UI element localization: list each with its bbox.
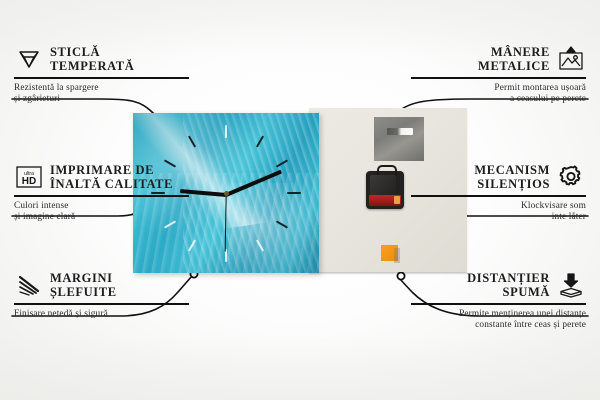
callout-underline bbox=[411, 303, 586, 305]
clock-tick-1 bbox=[256, 135, 264, 147]
callout-title-line1: MECANISM bbox=[474, 163, 550, 177]
hanger-slot bbox=[387, 128, 413, 135]
callout-underline bbox=[411, 77, 586, 79]
callout-title: MARGINI ȘLEFUITE bbox=[50, 271, 117, 299]
clock-second-hand bbox=[224, 194, 226, 252]
callout-underline bbox=[411, 195, 586, 197]
callout-subtitle: Finisare netedă și sigură bbox=[14, 309, 189, 320]
callout-title-line2: SPUMĂ bbox=[503, 285, 550, 299]
callout-title: IMPRIMARE DE ÎNALTĂ CALITATE bbox=[50, 163, 173, 191]
callout-subtitle-line2: constante între ceas și perete bbox=[475, 320, 586, 330]
callout-title-line2: TEMPERATĂ bbox=[50, 59, 134, 73]
callout-title-line2: ÎNALTĂ CALITATE bbox=[50, 177, 173, 191]
clock-tick-7 bbox=[188, 239, 196, 251]
callout-subtitle-line2: a ceasului pe perete bbox=[510, 94, 586, 104]
clock-tick-2 bbox=[276, 159, 288, 167]
callout-title: DISTANȚIER SPUMĂ bbox=[467, 271, 550, 299]
callout-title: MÂNERE METALICE bbox=[478, 45, 550, 73]
callout-title: STICLĂ TEMPERATĂ bbox=[50, 45, 134, 73]
callout-title: MECANISM SILENȚIOS bbox=[474, 163, 550, 191]
ultra-hd-icon: ultra HD bbox=[14, 162, 44, 192]
callout-title-line1: DISTANȚIER bbox=[467, 271, 550, 285]
callout-title-line1: MARGINI bbox=[50, 271, 113, 285]
clock-tick-12 bbox=[225, 125, 227, 138]
callout-title-line2: ȘLEFUITE bbox=[50, 285, 117, 299]
callout-subtitle: Rezistentă la spargere și zgârieturi bbox=[14, 83, 189, 106]
callout-title-line1: IMPRIMARE DE bbox=[50, 163, 154, 177]
clock-center-pin bbox=[224, 191, 229, 196]
callout-title-line2: SILENȚIOS bbox=[477, 177, 550, 191]
callout-margini-slefuite: MARGINI ȘLEFUITE Finisare netedă și sigu… bbox=[14, 268, 189, 320]
callout-subtitle-line1: Permit montarea ușoară bbox=[494, 83, 586, 93]
callout-underline bbox=[14, 303, 189, 305]
callout-subtitle: Klockvisare som inte låter bbox=[411, 201, 586, 224]
callout-subtitle-line2: inte låter bbox=[552, 212, 586, 222]
callout-subtitle: Culori intense și imagine clară bbox=[14, 201, 189, 224]
callout-subtitle-line2: și zgârieturi bbox=[14, 94, 60, 104]
callout-underline bbox=[14, 77, 189, 79]
clock-minute-hand bbox=[225, 170, 282, 197]
callout-subtitle-line1: Rezistentă la spargere bbox=[14, 83, 99, 93]
callout-subtitle: Permit montarea ușoară a ceasului pe per… bbox=[411, 83, 586, 106]
mechanism-body bbox=[370, 175, 396, 197]
diamond-icon bbox=[14, 44, 44, 74]
callout-distantier-spuma: DISTANȚIER SPUMĂ Permite menținerea unei… bbox=[411, 268, 586, 331]
feather-glow bbox=[228, 183, 319, 273]
callout-subtitle-line1: Klockvisare som bbox=[521, 201, 586, 211]
battery bbox=[369, 195, 401, 206]
callout-mecanism-silentios: MECANISM SILENȚIOS Klockvisare som inte … bbox=[411, 160, 586, 223]
callout-underline bbox=[14, 195, 189, 197]
callout-title-line1: MÂNERE bbox=[491, 45, 550, 59]
svg-text:HD: HD bbox=[22, 176, 36, 187]
callout-sticla-temperata: STICLĂ TEMPERATĂ Rezistentă la spargere … bbox=[14, 42, 189, 105]
callout-title-line1: STICLĂ bbox=[50, 45, 100, 59]
callout-manere-metalice: MÂNERE METALICE Permit montarea ușoară a… bbox=[411, 42, 586, 105]
foam-spacer-icon bbox=[556, 270, 586, 300]
callout-subtitle-line1: Culori intense bbox=[14, 201, 69, 211]
callout-subtitle: Permite menținerea unei distanțe constan… bbox=[411, 309, 586, 332]
clock-tick-4 bbox=[276, 220, 288, 228]
callout-subtitle-line1: Finisare netedă și sigură bbox=[14, 309, 108, 319]
callout-subtitle-line2: și imagine clară bbox=[14, 212, 75, 222]
polished-edges-icon bbox=[14, 270, 44, 300]
gear-icon bbox=[556, 162, 586, 192]
clock-tick-5 bbox=[256, 239, 264, 251]
callout-subtitle-line1: Permite menținerea unei distanțe bbox=[459, 309, 586, 319]
foam-spacer bbox=[381, 245, 398, 261]
infographic-canvas: STICLĂ TEMPERATĂ Rezistentă la spargere … bbox=[0, 0, 600, 400]
callout-imprimare-hd: ultra HD IMPRIMARE DE ÎNALTĂ CALITATE Cu… bbox=[14, 160, 189, 223]
picture-hanger-icon bbox=[556, 44, 586, 74]
clock-tick-11 bbox=[188, 135, 196, 147]
quartz-mechanism bbox=[366, 171, 404, 209]
clock-tick-3 bbox=[287, 192, 301, 194]
battery-terminal bbox=[394, 196, 400, 204]
metal-hanger-plate bbox=[374, 117, 424, 161]
callout-title-line2: METALICE bbox=[478, 59, 550, 73]
